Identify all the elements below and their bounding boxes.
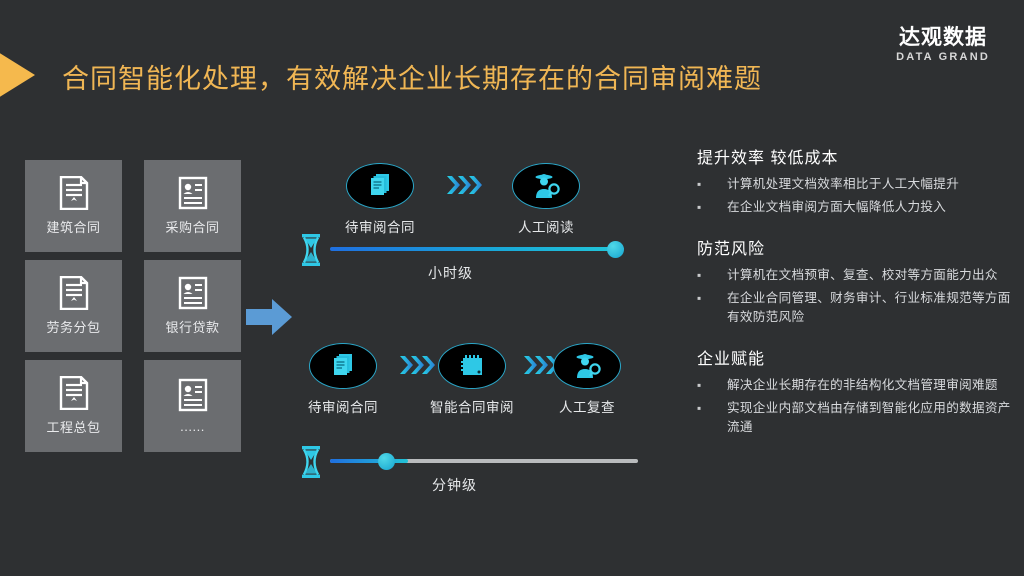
- timeline-knob[interactable]: [607, 241, 624, 258]
- flow-node-manual-read[interactable]: 人工阅读: [512, 163, 580, 236]
- benefit-title: 提升效率 较低成本: [697, 144, 1017, 168]
- id-card-icon: [178, 378, 208, 412]
- contract-card-label: 采购合同: [165, 217, 219, 236]
- chip-icon: [457, 351, 487, 381]
- hourglass-icon: [300, 445, 322, 479]
- benefit-block-empowerment: 企业赋能 ▪ 解决企业长期存在的非结构化文档管理审阅难题 ▪ 实现企业内部文档由…: [697, 345, 1017, 437]
- logo-english-text: DATA GRAND: [896, 52, 990, 63]
- bullet-marker-icon: ▪: [697, 376, 727, 395]
- contract-card-1[interactable]: 采购合同: [144, 160, 241, 252]
- flow-node-pending-contract-2[interactable]: 待审阅合同: [308, 343, 378, 416]
- contract-card-3[interactable]: 银行贷款: [144, 260, 241, 352]
- contract-card-5[interactable]: ......: [144, 360, 241, 452]
- flow-node-label: 待审阅合同: [345, 216, 415, 236]
- brand-logo: 达观数据 DATA GRAND: [896, 27, 990, 63]
- benefit-title: 防范风险: [697, 235, 1017, 259]
- flow-node-label: 人工复查: [559, 396, 615, 416]
- timeline-track[interactable]: [330, 247, 624, 251]
- timeline-label: 分钟级: [432, 475, 477, 495]
- node-badge: [346, 163, 414, 209]
- benefit-block-risk: 防范风险 ▪ 计算机在文档预审、复查、校对等方面能力出众 ▪ 在企业合同管理、财…: [697, 235, 1017, 327]
- contract-card-label: 工程总包: [46, 417, 100, 436]
- timeline-label: 小时级: [428, 263, 473, 283]
- bullet-marker-icon: ▪: [697, 399, 727, 418]
- node-badge: [553, 343, 621, 389]
- timeline-progress-fill: [330, 459, 408, 463]
- flow-node-manual-recheck[interactable]: 人工复查: [553, 343, 621, 416]
- benefit-bullet: ▪ 实现企业内部文档由存储到智能化应用的数据资产流通: [697, 399, 1017, 437]
- flow-node-label: 待审阅合同: [308, 396, 378, 416]
- flow-node-label: 人工阅读: [518, 216, 574, 236]
- page-title: 合同智能化处理，有效解决企业长期存在的合同审阅难题: [62, 57, 762, 96]
- benefit-bullet-text: 解决企业长期存在的非结构化文档管理审阅难题: [727, 376, 998, 395]
- hourglass-icon: [300, 233, 322, 267]
- contract-card-grid: 建筑合同 采购合同 劳务分包: [25, 160, 241, 452]
- contract-card-label: ......: [180, 419, 205, 434]
- logo-chinese-text: 达观数据: [896, 27, 990, 48]
- bullet-marker-icon: ▪: [697, 175, 727, 194]
- contract-card-label: 银行贷款: [165, 317, 219, 336]
- bullet-marker-icon: ▪: [697, 266, 727, 285]
- benefit-bullet: ▪ 计算机处理文档效率相比于人工大幅提升: [697, 175, 1017, 194]
- contract-card-4[interactable]: 工程总包: [25, 360, 122, 452]
- manual-flow-diagram: 待审阅合同: [300, 163, 645, 229]
- node-badge: [512, 163, 580, 209]
- right-arrow-icon: [246, 296, 292, 338]
- benefit-bullet: ▪ 解决企业长期存在的非结构化文档管理审阅难题: [697, 376, 1017, 395]
- contract-card-0[interactable]: 建筑合同: [25, 160, 122, 252]
- benefit-bullet: ▪ 在企业文档审阅方面大幅降低人力投入: [697, 198, 1017, 217]
- bullet-marker-icon: ▪: [697, 198, 727, 217]
- benefit-bullet: ▪ 在企业合同管理、财务审计、行业标准规范等方面有效防范风险: [697, 289, 1017, 327]
- reviewer-person-icon: [530, 171, 562, 201]
- benefit-bullet-text: 在企业合同管理、财务审计、行业标准规范等方面有效防范风险: [727, 289, 1017, 327]
- timeline-knob[interactable]: [378, 453, 395, 470]
- contract-card-2[interactable]: 劳务分包: [25, 260, 122, 352]
- chevron-right-icon: [445, 173, 485, 197]
- contract-card-label: 建筑合同: [46, 217, 100, 236]
- benefit-bullet: ▪ 计算机在文档预审、复查、校对等方面能力出众: [697, 266, 1017, 285]
- title-arrow-icon: [0, 47, 35, 103]
- node-badge: [438, 343, 506, 389]
- intelligent-flow-diagram: 待审阅合同: [300, 343, 660, 409]
- id-card-icon: [178, 276, 208, 310]
- document-icon: [59, 276, 89, 310]
- benefit-block-efficiency: 提升效率 较低成本 ▪ 计算机处理文档效率相比于人工大幅提升 ▪ 在企业文档审阅…: [697, 144, 1017, 217]
- document-icon: [59, 376, 89, 410]
- reviewer-person-icon: [571, 351, 603, 381]
- document-icon: [59, 176, 89, 210]
- stacked-documents-icon: [365, 171, 395, 201]
- stacked-documents-icon: [328, 351, 358, 381]
- flow-node-ai-review[interactable]: 智能合同审阅: [430, 343, 514, 416]
- benefit-bullet-text: 在企业文档审阅方面大幅降低人力投入: [727, 198, 946, 217]
- id-card-icon: [178, 176, 208, 210]
- benefit-title: 企业赋能: [697, 345, 1017, 369]
- bullet-marker-icon: ▪: [697, 289, 727, 308]
- flow-node-pending-contract[interactable]: 待审阅合同: [345, 163, 415, 236]
- slide-canvas: 合同智能化处理，有效解决企业长期存在的合同审阅难题 达观数据 DATA GRAN…: [0, 0, 1024, 576]
- benefit-bullet-text: 实现企业内部文档由存储到智能化应用的数据资产流通: [727, 399, 1017, 437]
- flow-node-label: 智能合同审阅: [430, 396, 514, 416]
- benefit-bullet-text: 计算机在文档预审、复查、校对等方面能力出众: [727, 266, 998, 285]
- contract-card-label: 劳务分包: [46, 317, 100, 336]
- benefit-bullet-text: 计算机处理文档效率相比于人工大幅提升: [727, 175, 959, 194]
- benefits-column: 提升效率 较低成本 ▪ 计算机处理文档效率相比于人工大幅提升 ▪ 在企业文档审阅…: [697, 144, 1017, 455]
- node-badge: [309, 343, 377, 389]
